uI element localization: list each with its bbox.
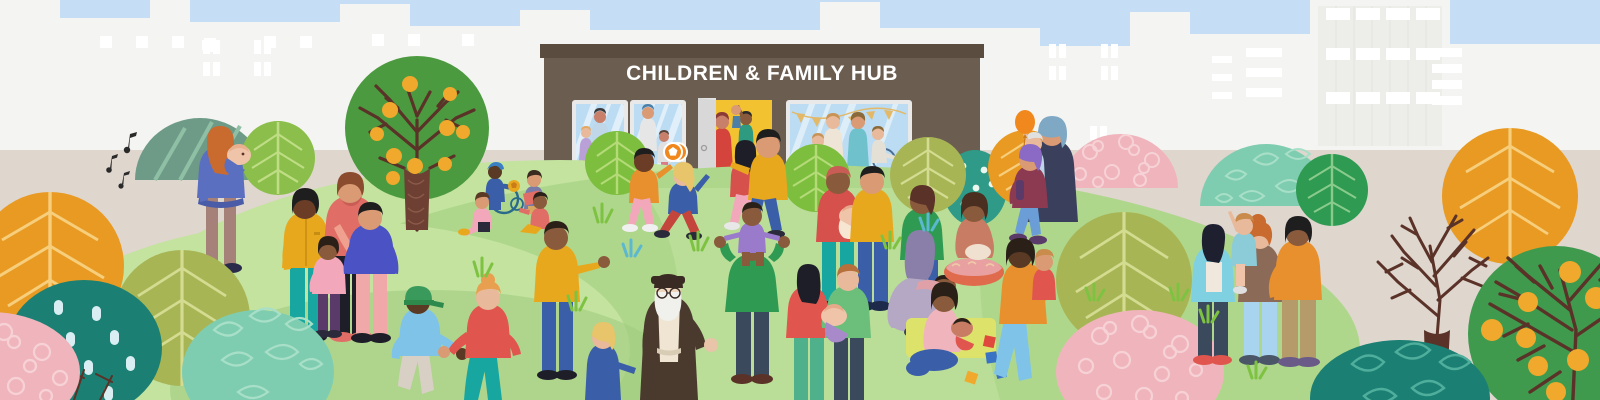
building-roof <box>540 44 984 58</box>
illustration-canvas: CHILDREN & FAMILY HUB <box>0 0 1600 400</box>
green-leaf-bush-right <box>1296 154 1368 226</box>
football <box>664 143 682 161</box>
group-right-with-toddler <box>1191 211 1322 367</box>
park-illustration-scene: CHILDREN & FAMILY HUB <box>0 0 1600 400</box>
green-leaf-bush-small <box>241 121 315 195</box>
building-sign-text: CHILDREN & FAMILY HUB <box>626 62 898 85</box>
